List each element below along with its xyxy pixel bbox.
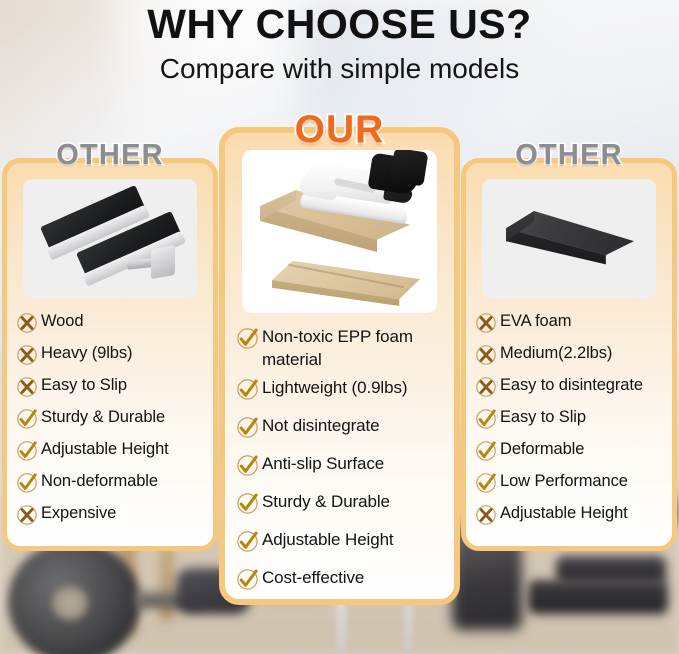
- list-item: Not disintegrate: [236, 414, 443, 447]
- cross-icon: [16, 504, 38, 526]
- list-item: Non-toxic EPP foam material: [236, 325, 443, 371]
- feature-label: Sturdy & Durable: [262, 490, 390, 513]
- cross-icon: [16, 376, 38, 398]
- check-icon: [16, 408, 38, 430]
- feature-label: Easy to Slip: [41, 374, 127, 396]
- cross-icon: [475, 344, 497, 366]
- metal-wood-slant-boards-image: [23, 179, 197, 298]
- eva-wedge-shape: [506, 211, 634, 269]
- list-item: Medium(2.2lbs): [475, 342, 663, 371]
- comparison-card-other-left: Wood Heavy (9lbs) Easy to Slip Sturdy & …: [2, 158, 218, 551]
- feature-label: Non-toxic EPP foam material: [262, 325, 443, 371]
- check-icon: [236, 454, 259, 477]
- feature-label: Easy to Slip: [500, 406, 586, 428]
- check-icon: [236, 530, 259, 553]
- feature-label: Adjustable Height: [262, 528, 394, 551]
- check-icon: [236, 568, 259, 591]
- header-block: WHY CHOOSE US? Compare with simple model…: [0, 0, 679, 85]
- check-icon: [236, 378, 259, 401]
- comparison-card-other-right: EVA foam Medium(2.2lbs) Easy to disinteg…: [461, 158, 677, 551]
- feature-label: Lightweight (0.9lbs): [262, 376, 407, 399]
- cross-icon: [475, 376, 497, 398]
- feature-list-other-left: Wood Heavy (9lbs) Easy to Slip Sturdy & …: [7, 310, 213, 534]
- epp-foam-slant-board-image: [242, 150, 437, 313]
- list-item: Wood: [16, 310, 204, 339]
- cross-icon: [475, 504, 497, 526]
- check-icon: [236, 327, 259, 350]
- feature-label: Sturdy & Durable: [41, 406, 165, 428]
- black-pant-leg: [390, 150, 429, 186]
- column-badge-our: OUR: [219, 108, 460, 152]
- page-title: WHY CHOOSE US?: [0, 0, 679, 47]
- feature-label: Wood: [41, 310, 83, 332]
- list-item: Sturdy & Durable: [16, 406, 204, 435]
- check-icon: [16, 440, 38, 462]
- column-badge-other-left: OTHER: [2, 139, 218, 172]
- page-subtitle: Compare with simple models: [0, 47, 679, 85]
- feature-label: Heavy (9lbs): [41, 342, 132, 364]
- list-item: Adjustable Height: [475, 502, 663, 531]
- feature-label: Not disintegrate: [262, 414, 379, 437]
- second-foam-wedge-shape: [272, 258, 420, 306]
- background-bench: [528, 580, 668, 614]
- check-icon: [16, 472, 38, 494]
- list-item: Heavy (9lbs): [16, 342, 204, 371]
- check-icon: [475, 472, 497, 494]
- feature-list-other-right: EVA foam Medium(2.2lbs) Easy to disinteg…: [466, 310, 672, 534]
- feature-label: Adjustable Height: [500, 502, 628, 524]
- cross-icon: [475, 312, 497, 334]
- list-item: Anti-slip Surface: [236, 452, 443, 485]
- cross-icon: [16, 312, 38, 334]
- feature-list-our: Non-toxic EPP foam material Lightweight …: [225, 325, 454, 604]
- list-item: Cost-effective: [236, 566, 443, 599]
- list-item: Deformable: [475, 438, 663, 467]
- check-icon: [475, 440, 497, 462]
- background-weight-plate-hole: [52, 586, 88, 620]
- check-icon: [475, 408, 497, 430]
- column-badge-other-right: OTHER: [461, 139, 677, 172]
- slant-board-foot: [151, 245, 175, 279]
- cross-icon: [16, 344, 38, 366]
- list-item: Non-deformable: [16, 470, 204, 499]
- list-item: Sturdy & Durable: [236, 490, 443, 523]
- feature-label: Anti-slip Surface: [262, 452, 384, 475]
- feature-label: Adjustable Height: [41, 438, 169, 460]
- check-icon: [236, 416, 259, 439]
- feature-label: Easy to disintegrate: [500, 374, 643, 396]
- list-item: Low Performance: [475, 470, 663, 499]
- list-item: Adjustable Height: [16, 438, 204, 467]
- list-item: Expensive: [16, 502, 204, 531]
- list-item: Adjustable Height: [236, 528, 443, 561]
- feature-label: Expensive: [41, 502, 116, 524]
- feature-label: EVA foam: [500, 310, 571, 332]
- check-icon: [236, 492, 259, 515]
- sneaker-shape: [300, 156, 418, 218]
- list-item: Easy to Slip: [16, 374, 204, 403]
- list-item: Easy to disintegrate: [475, 374, 663, 403]
- feature-label: Deformable: [500, 438, 584, 460]
- list-item: Lightweight (0.9lbs): [236, 376, 443, 409]
- list-item: Easy to Slip: [475, 406, 663, 435]
- black-eva-foam-wedge-image: [482, 179, 656, 298]
- list-item: EVA foam: [475, 310, 663, 339]
- feature-label: Medium(2.2lbs): [500, 342, 612, 364]
- feature-label: Cost-effective: [262, 566, 364, 589]
- feature-label: Low Performance: [500, 470, 628, 492]
- comparison-card-our: Non-toxic EPP foam material Lightweight …: [219, 127, 460, 605]
- feature-label: Non-deformable: [41, 470, 158, 492]
